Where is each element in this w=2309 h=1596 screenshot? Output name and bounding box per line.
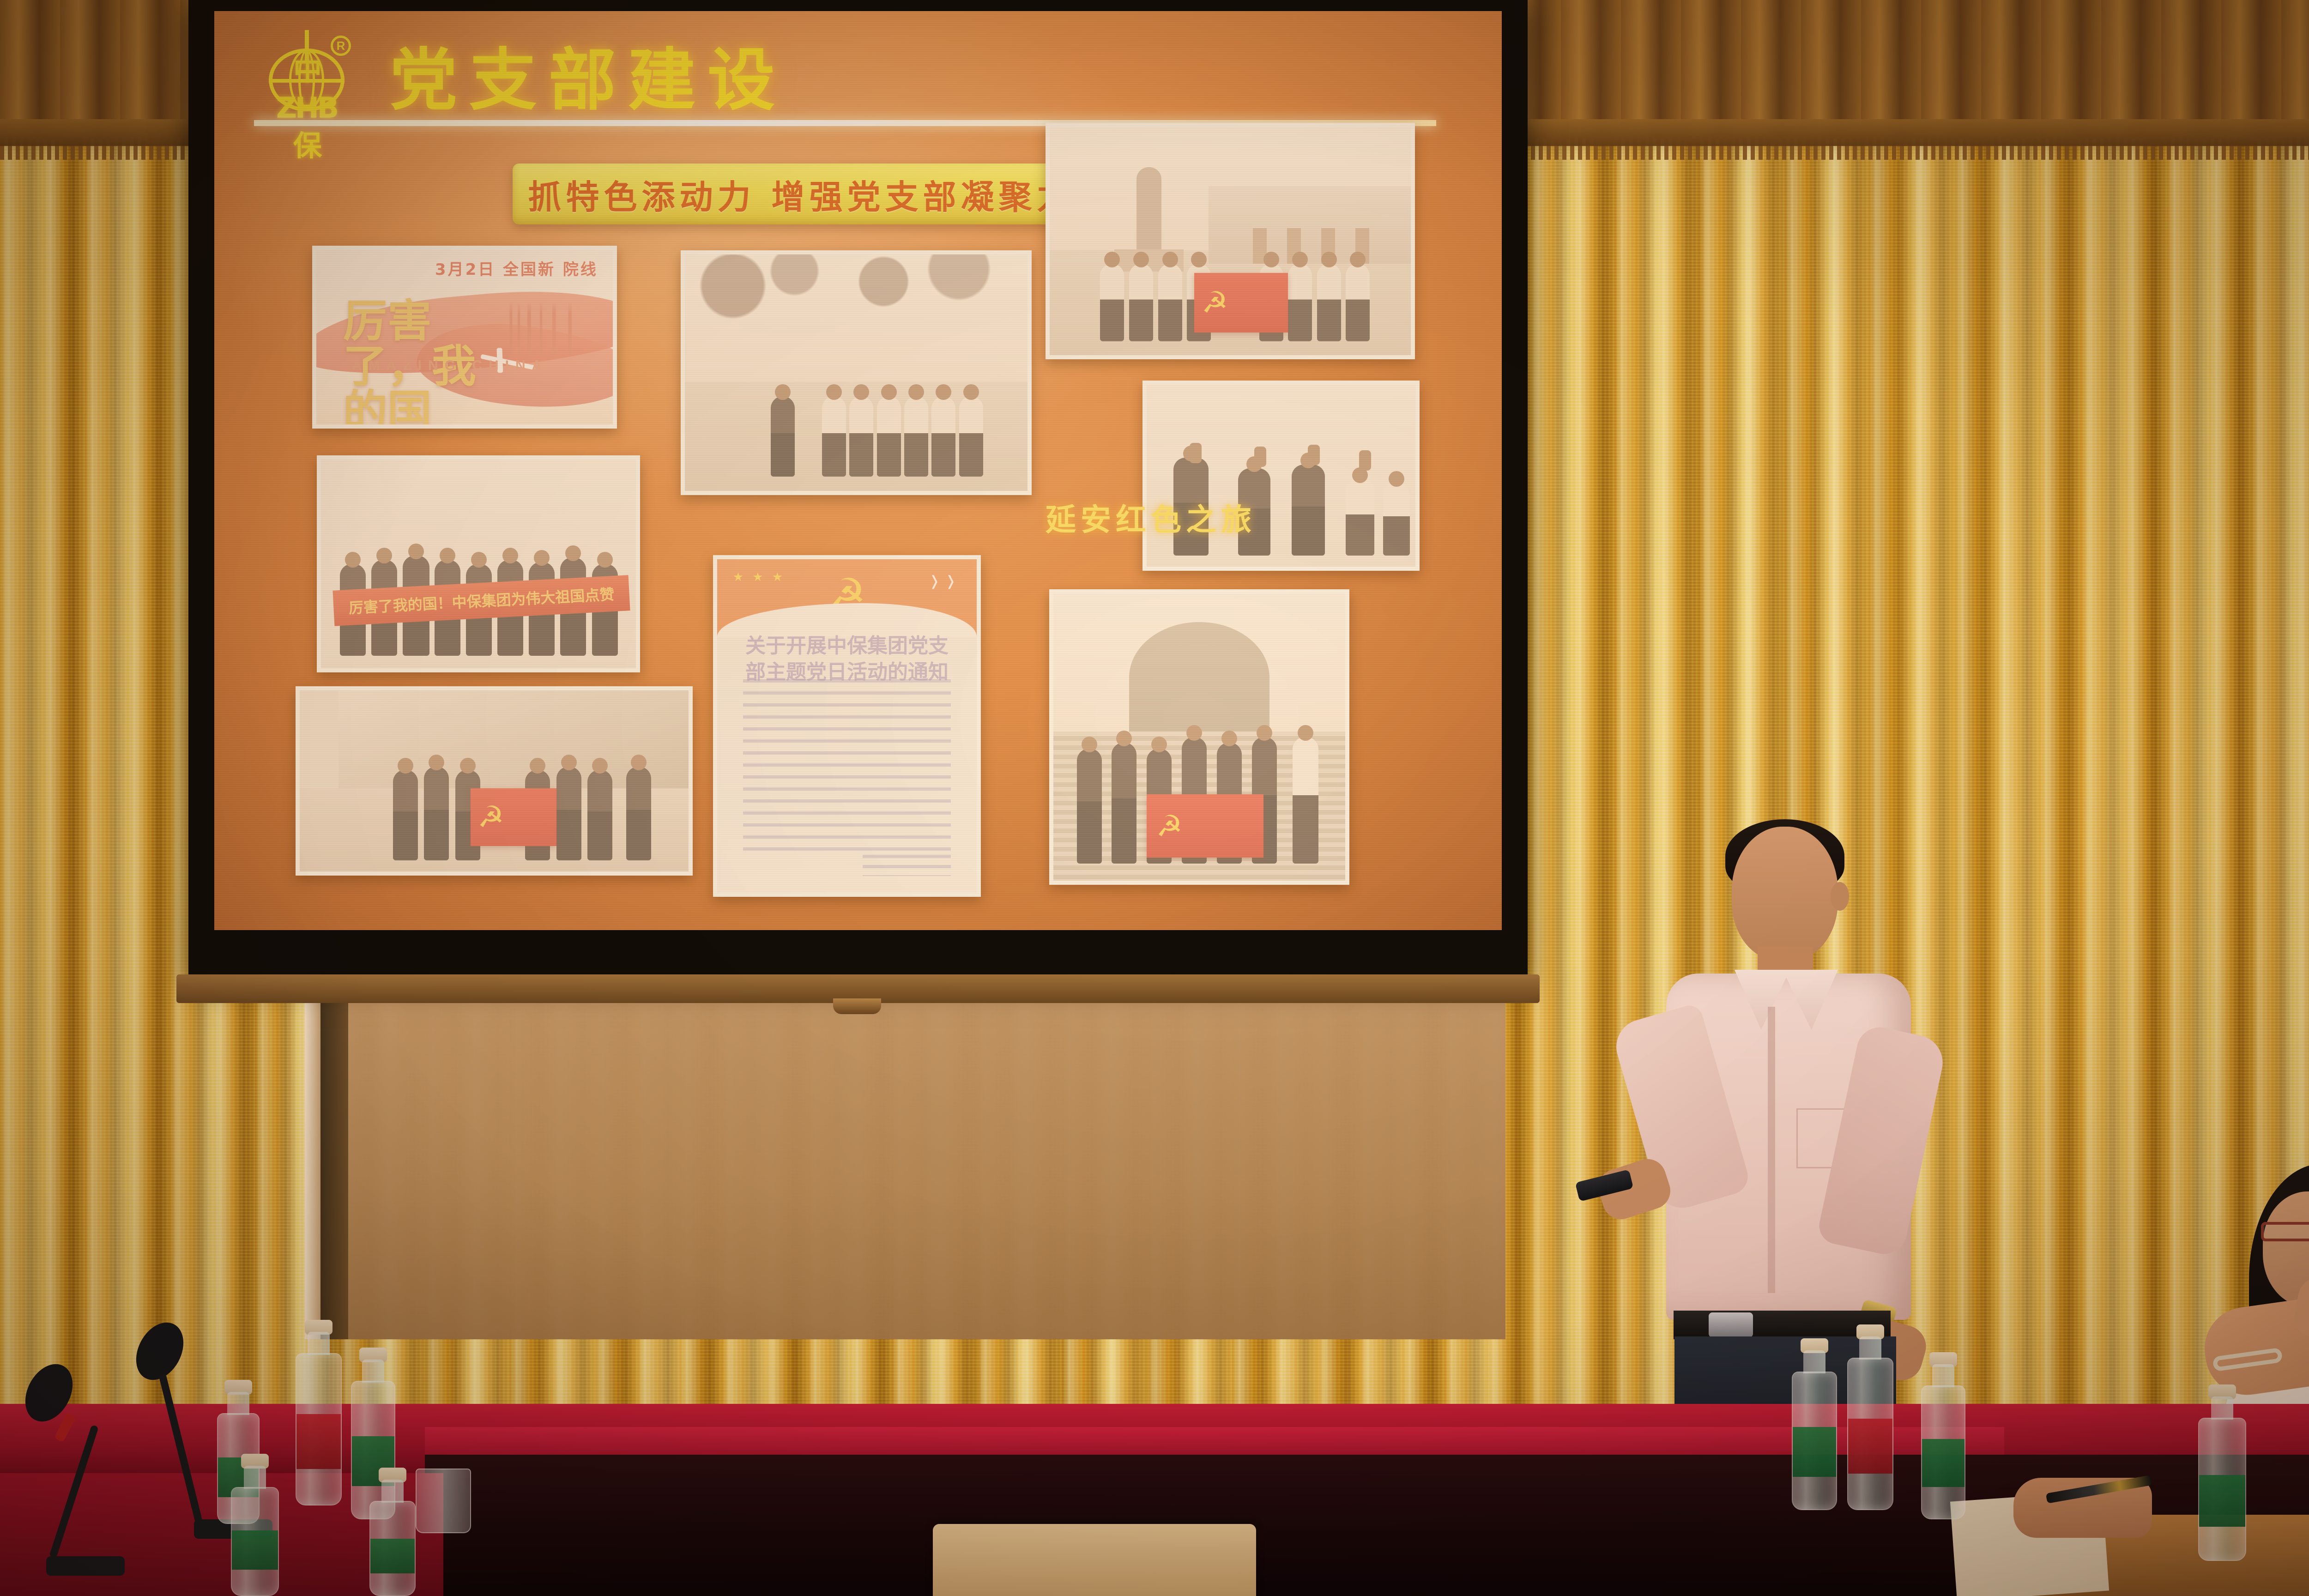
notice-signature-lines (863, 855, 951, 876)
presenter-person (1644, 813, 1940, 1469)
glasses-icon (2261, 1222, 2309, 1241)
presenter-ear (1831, 882, 1849, 911)
presenter-head (1732, 827, 1838, 961)
cardboard-box (933, 1524, 1256, 1596)
attendee-writing-hand (2013, 1469, 2207, 1552)
slide-title-row: 中ZHB保 R 党支部建设 (265, 23, 1410, 126)
slide-title: 党支部建设 (390, 26, 787, 123)
trademark-icon: R (331, 36, 351, 56)
water-bottle[interactable] (2198, 1418, 2246, 1561)
logo-glyphs: 中ZHB保 (272, 51, 342, 89)
water-bottle[interactable] (1921, 1385, 1965, 1519)
photo-memorial-steps-flag (1049, 589, 1349, 885)
photo-oath-ceremony (1142, 381, 1420, 571)
screen-pull-handle[interactable] (833, 998, 881, 1014)
party-flag-icon (1194, 273, 1288, 332)
group-banner-text: 厉害了我的国！中保集团为伟大祖国点赞 (348, 583, 615, 618)
water-bottle[interactable] (369, 1501, 416, 1596)
water-bottle[interactable] (231, 1487, 279, 1596)
photo-walking-tour (681, 250, 1032, 495)
drinking-glass[interactable] (416, 1469, 471, 1533)
photo-mao-statue-flag (1046, 123, 1415, 359)
slide-caption: 延安红色之旅 (1046, 495, 1256, 539)
subtitle-banner: 抓特色添动力 增强党支部凝聚力 (513, 163, 1090, 224)
birds-icon: ❭❭ (929, 573, 961, 589)
subtitle-banner-text: 抓特色添动力 增强党支部凝聚力 (528, 170, 1074, 218)
poster-subtitle: AMAZING CHINA (352, 358, 548, 374)
belt-buckle (1709, 1312, 1753, 1337)
projection-screen[interactable]: 中ZHB保 R 党支部建设 抓特色添动力 增强党支部凝聚力 3月2日 全国新 院… (188, 0, 1528, 974)
photo-poster-amazing-china: 3月2日 全国新 院线 厉害了，我的国 AMAZING CHINA (312, 246, 617, 429)
wall-dark-strip (320, 951, 348, 1339)
water-bottle[interactable] (296, 1353, 342, 1505)
photo-banner-group: 厉害了我的国！中保集团为伟大祖国点赞 (317, 455, 640, 672)
party-flag-icon (471, 788, 556, 846)
presentation-slide: 中ZHB保 R 党支部建设 抓特色添动力 增强党支部凝聚力 3月2日 全国新 院… (214, 11, 1502, 930)
photo-cave-site-flag (296, 686, 693, 876)
stars-icon: ★ ★ ★ (733, 570, 786, 584)
party-flag-icon (1147, 794, 1263, 858)
hammer-sickle-icon: ☭ (828, 573, 866, 616)
poster-date-line: 3月2日 全国新 院线 (435, 257, 598, 279)
notice-body-lines (743, 679, 951, 859)
attendee-arm (2199, 1292, 2309, 1400)
water-bottle[interactable] (1792, 1372, 1837, 1510)
company-logo-icon: 中ZHB保 R (265, 33, 348, 116)
photo-notice-document: ★ ★ ★ ☭ ❭❭ 关于开展中保集团党支部主题党日活动的通知 (713, 555, 981, 897)
wall-panel-edge (305, 951, 321, 1339)
water-bottle[interactable] (1847, 1358, 1893, 1510)
presenter-shirt-placket (1768, 1007, 1775, 1293)
conference-room: 中ZHB保 R 党支部建设 抓特色添动力 增强党支部凝聚力 3月2日 全国新 院… (0, 0, 2309, 1596)
notice-title: 关于开展中保集团党支部主题党日活动的通知 (738, 633, 956, 685)
wall-panel (305, 951, 1505, 1339)
